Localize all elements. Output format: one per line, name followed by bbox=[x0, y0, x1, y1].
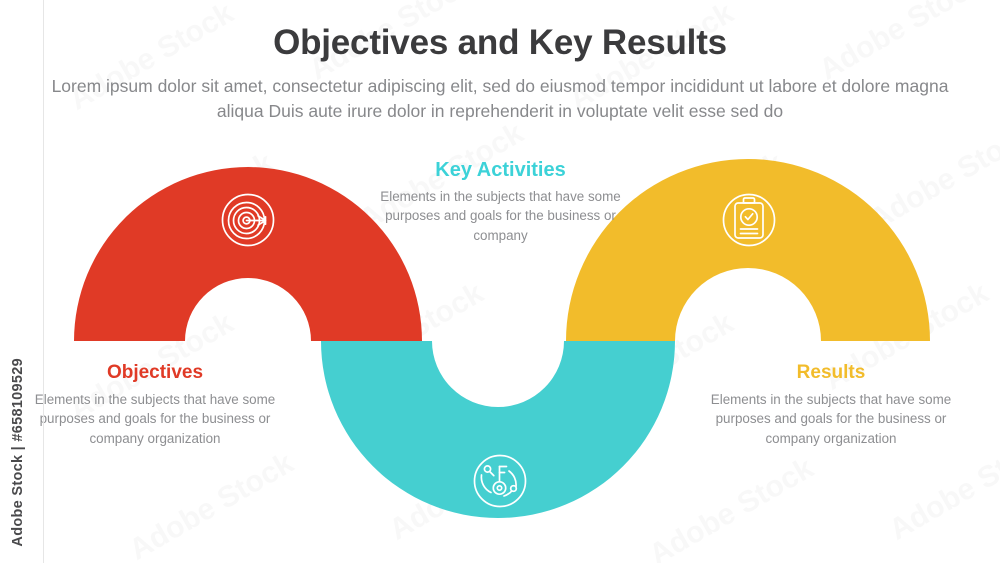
key-activities-description: Elements in the subjects that have some … bbox=[373, 187, 628, 245]
wave-diagram bbox=[0, 0, 1000, 563]
objectives-block: Objectives Elements in the subjects that… bbox=[22, 362, 288, 448]
infographic-canvas: Adobe Stock Adobe Stock Adobe Stock Adob… bbox=[0, 0, 1000, 563]
key-activities-block: Key Activities Elements in the subjects … bbox=[373, 158, 628, 245]
watermark-rail: Adobe Stock | #658109529 bbox=[0, 0, 44, 563]
watermark-label: Adobe Stock | #658109529 bbox=[10, 358, 34, 547]
results-description: Elements in the subjects that have some … bbox=[700, 390, 962, 448]
key-activities-arc[interactable] bbox=[321, 341, 675, 518]
key-activities-title: Key Activities bbox=[373, 158, 628, 182]
objectives-title: Objectives bbox=[22, 362, 288, 385]
objectives-description: Elements in the subjects that have some … bbox=[22, 390, 288, 448]
results-block: Results Elements in the subjects that ha… bbox=[700, 362, 962, 448]
objectives-arc[interactable] bbox=[74, 167, 422, 341]
results-title: Results bbox=[700, 362, 962, 385]
